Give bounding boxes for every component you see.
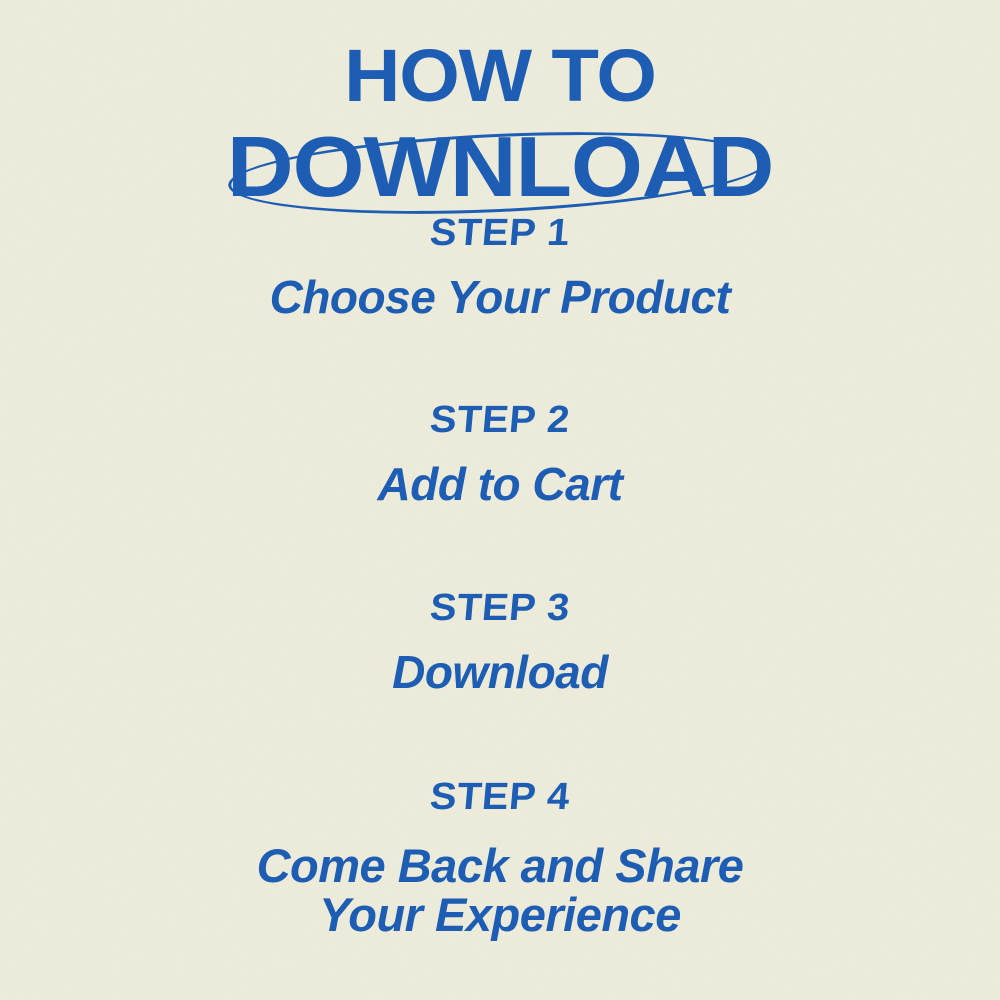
step-label-3: STEP 3 [0,589,1000,627]
poster-title: HOW TO DOWNLOAD [0,36,1000,186]
title-line-download: DOWNLOAD [0,125,1000,210]
step-item-3: STEP 3 Download [0,589,1000,697]
step-item-2: STEP 2 Add to Cart [0,401,1000,509]
step-description-1: Choose Your Product [0,274,1000,322]
step-label-2: STEP 2 [0,401,1000,439]
step-label-4: STEP 4 [0,778,1000,816]
step-description-4-line-2: Your Experience [0,891,1000,940]
step-item-4: STEP 4 Come Back and Share Your Experien… [0,778,1000,940]
step-description-4-line-1: Come Back and Share [257,839,744,892]
step-description-1-line-1: Choose Your Product [270,271,731,323]
step-description-3-line-1: Download [392,646,608,698]
step-description-3: Download [0,649,1000,697]
step-item-1: STEP 1 Choose Your Product [0,214,1000,322]
step-label-1: STEP 1 [0,214,1000,252]
title-line-how-to: HOW TO [0,38,1000,112]
step-description-4: Come Back and Share Your Experience [0,842,1000,940]
poster-canvas: HOW TO DOWNLOAD STEP 1 Choose Your Produ… [0,0,1000,1000]
step-description-2: Add to Cart [0,461,1000,509]
step-description-2-line-1: Add to Cart [378,458,623,510]
